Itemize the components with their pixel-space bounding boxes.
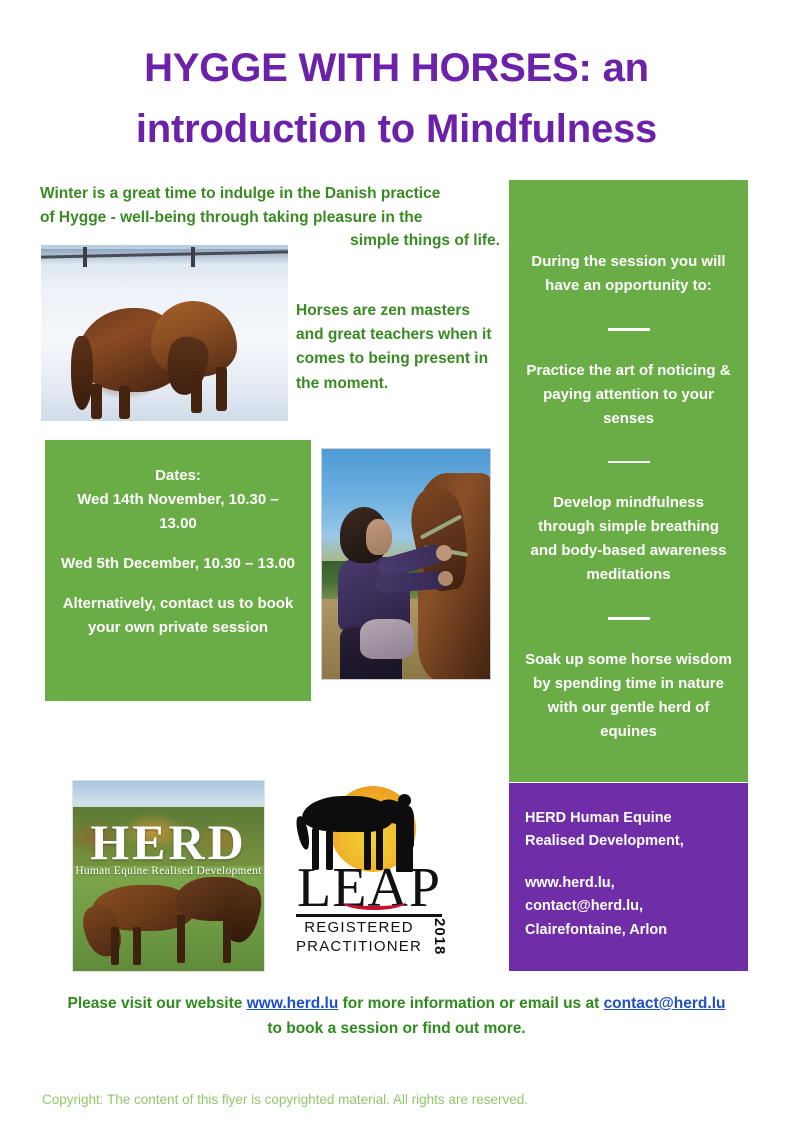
intro-paragraph: Winter is a great time to indulge in the… <box>40 182 500 253</box>
copyright-notice: Copyright: The content of this flyer is … <box>42 1092 742 1107</box>
photo-snow-horses <box>41 245 288 421</box>
horse-leg <box>191 371 202 413</box>
horse-leg <box>119 386 130 419</box>
footer-text-2: for more information or email us at <box>338 995 603 1012</box>
photo-woman-with-horse <box>321 448 491 680</box>
dates-heading: Dates: <box>57 464 299 488</box>
dates-session-2: Wed 5th December, 10.30 – 13.00 <box>57 552 299 576</box>
title-line-2: introduction to Mindfulness <box>60 99 733 160</box>
logo-divider-rule <box>296 914 442 917</box>
footer-text-1: Please visit our website <box>68 995 247 1012</box>
woman-face <box>366 519 392 555</box>
intro-line-2: of Hygge - well-being through taking ple… <box>40 206 500 230</box>
session-benefit-3: Soak up some horse wisdom by spending ti… <box>523 648 734 744</box>
footer-email-link[interactable]: contact@herd.lu <box>604 995 726 1012</box>
footer-website-link[interactable]: www.herd.lu <box>247 995 339 1012</box>
fence-post <box>83 247 87 267</box>
logo-horse-leg <box>111 927 119 965</box>
leap-registered-text: REGISTERED PRACTITIONER <box>292 919 426 957</box>
herd-wordmark: HERD <box>73 813 264 871</box>
divider-line <box>608 461 650 464</box>
footer-text-3: to book a session or find out more. <box>267 1020 525 1037</box>
dates-box: Dates: Wed 14th November, 10.30 – 13.00 … <box>45 440 311 701</box>
fence-post <box>191 247 195 267</box>
contact-website: www.herd.lu, <box>525 872 732 895</box>
contact-spacer <box>525 854 732 872</box>
contact-org-line-1: HERD Human Equine <box>525 807 732 830</box>
person-body-silhouette <box>396 806 414 848</box>
horse-leg <box>91 384 102 419</box>
woman-hand <box>436 545 452 561</box>
divider-line <box>608 328 650 331</box>
horse-leg <box>216 367 227 411</box>
intro-line-1: Winter is a great time to indulge in the… <box>40 182 500 206</box>
dates-session-1: Wed 14th November, 10.30 – 13.00 <box>57 488 299 536</box>
contact-box: HERD Human Equine Realised Development, … <box>509 783 748 971</box>
session-panel: During the session you will have an oppo… <box>509 180 748 782</box>
woman-hand <box>438 571 453 586</box>
session-panel-intro: During the session you will have an oppo… <box>523 250 734 298</box>
contact-org-line-2: Realised Development, <box>525 830 732 853</box>
leap-line-1: REGISTERED <box>292 919 426 938</box>
contact-email: contact@herd.lu, <box>525 895 732 918</box>
dates-alternative-note: Alternatively, contact us to book your o… <box>57 592 299 640</box>
divider-line <box>608 617 650 620</box>
page-title: HYGGE WITH HORSES: an introduction to Mi… <box>60 38 733 160</box>
woman-waist-wrap <box>360 619 414 659</box>
contact-location: Clairefontaine, Arlon <box>525 919 732 942</box>
leap-logo: LEAP REGISTERED PRACTITIONER 2018 <box>284 782 454 962</box>
herd-tagline: Human Equine Realised Development <box>73 865 264 877</box>
session-benefit-1: Practice the art of noticing & paying at… <box>523 359 734 431</box>
logo-horse-leg <box>133 927 141 965</box>
red-swoosh-icon <box>342 894 406 910</box>
title-line-1: HYGGE WITH HORSES: an <box>60 38 733 99</box>
herd-logo: HERD Human Equine Realised Development <box>72 780 265 972</box>
logo-horse-leg <box>177 915 185 963</box>
zen-masters-paragraph: Horses are zen masters and great teacher… <box>296 299 501 396</box>
flyer-page: HYGGE WITH HORSES: an introduction to Mi… <box>0 0 793 1142</box>
session-benefit-2: Develop mindfulness through simple breat… <box>523 491 734 587</box>
footer-call-to-action: Please visit our website www.herd.lu for… <box>60 991 733 1041</box>
leap-year: 2018 <box>431 918 448 955</box>
logo-horse-leg <box>223 917 231 963</box>
leap-line-2: PRACTITIONER <box>292 938 426 957</box>
